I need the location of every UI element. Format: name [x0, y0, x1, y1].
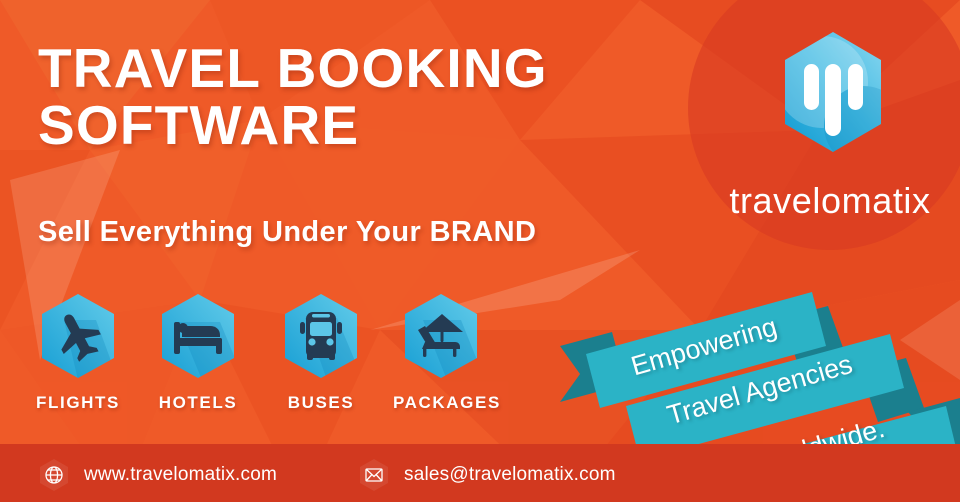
- bed-icon: [158, 292, 238, 380]
- promotional-banner: TRAVEL BOOKING SOFTWARE Sell Everything …: [0, 0, 960, 502]
- footer-website[interactable]: www.travelomatix.com: [38, 458, 277, 492]
- ribbon-banner-group: Empowering Travel Agencies Worldwide.: [560, 288, 960, 468]
- service-item-buses[interactable]: BUSES: [273, 292, 369, 413]
- service-label: PACKAGES: [393, 393, 489, 413]
- service-label: FLIGHTS: [30, 393, 126, 413]
- email-address: sales@travelomatix.com: [404, 464, 616, 486]
- bus-icon: [281, 292, 361, 380]
- airplane-icon: [38, 292, 118, 380]
- hexagon-travelomatix-logo-icon: [778, 30, 888, 154]
- footer-email[interactable]: sales@travelomatix.com: [358, 458, 616, 492]
- services-list: FLIGHTS: [30, 292, 530, 410]
- service-item-flights[interactable]: FLIGHTS: [30, 292, 126, 413]
- service-label: BUSES: [273, 393, 369, 413]
- brand-wordmark: travelomatix: [720, 180, 940, 222]
- page-subtitle: Sell Everything Under Your BRAND: [38, 216, 536, 249]
- service-item-packages[interactable]: PACKAGES: [393, 292, 489, 413]
- website-url: www.travelomatix.com: [84, 464, 277, 486]
- brand-logo: travelomatix: [720, 30, 940, 215]
- envelope-icon: [358, 458, 390, 492]
- globe-icon: [38, 458, 70, 492]
- beach-lounger-icon: [401, 292, 481, 380]
- footer-bar: www.travelomatix.com sales@travelomatix.…: [0, 444, 960, 502]
- service-label: HOTELS: [150, 393, 246, 413]
- service-item-hotels[interactable]: HOTELS: [150, 292, 246, 413]
- page-title: TRAVEL BOOKING SOFTWARE: [38, 40, 658, 154]
